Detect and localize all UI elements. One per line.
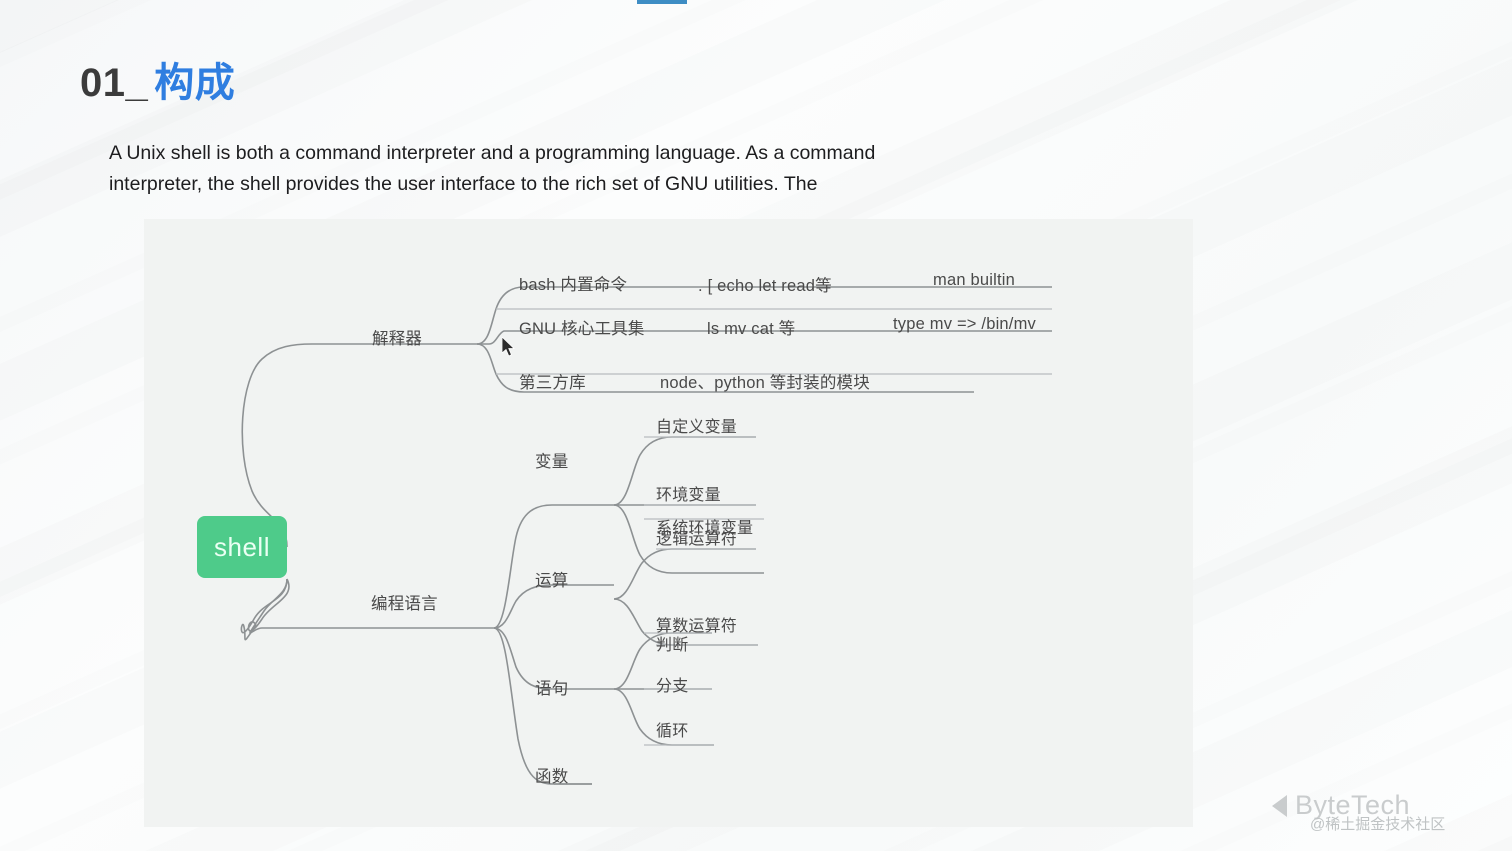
mindmap-panel: shell 解释器 编程语言 bash 内置命令 . [ echo let re…: [144, 219, 1193, 827]
paragraph-line-2: interpreter, the shell provides the user…: [109, 169, 1009, 200]
interpreter-item-0-note: man builtin: [933, 271, 1015, 290]
interpreter-item-1-name[interactable]: GNU 核心工具集: [519, 315, 645, 339]
interpreter-item-0-name[interactable]: bash 内置命令: [519, 271, 627, 295]
bytetech-arrow-icon: [1272, 795, 1287, 817]
page-title-text: 构成: [154, 61, 235, 105]
body-paragraph: A Unix shell is both a command interpret…: [109, 138, 1009, 200]
language-group-0-child-0[interactable]: 自定义变量: [656, 413, 737, 437]
language-group-2-label[interactable]: 语句: [535, 675, 568, 699]
mouse-cursor-icon: [502, 337, 516, 357]
page-title-number: 01_: [80, 61, 148, 105]
slide-progress-track[interactable]: [0, 0, 1512, 4]
interpreter-item-1-note: type mv => /bin/mv: [893, 315, 1036, 334]
language-group-1-label[interactable]: 运算: [535, 567, 568, 591]
slide-progress-bar: [637, 0, 687, 4]
language-group-0-label[interactable]: 变量: [535, 448, 568, 472]
interpreter-item-0-examples: . [ echo let read等: [698, 272, 832, 296]
interpreter-item-2-name[interactable]: 第三方库: [519, 369, 586, 393]
statement-child-judge[interactable]: 判断: [656, 631, 688, 655]
mindmap-root-shell[interactable]: shell: [197, 516, 287, 578]
statement-child-loop[interactable]: 循环: [656, 717, 688, 741]
statement-child-branch[interactable]: 分支: [656, 672, 688, 696]
branch-label-interpreter[interactable]: 解释器: [372, 325, 422, 349]
paragraph-line-1: A Unix shell is both a command interpret…: [109, 138, 1009, 169]
community-credit-watermark: @稀土掘金技术社区: [1310, 813, 1445, 834]
language-group-0-child-1[interactable]: 环境变量: [656, 481, 721, 505]
language-group-3-label[interactable]: 函数: [535, 763, 568, 787]
page-title: 01_构成: [80, 50, 235, 108]
slide-canvas: 01_构成 A Unix shell is both a command int…: [0, 0, 1512, 851]
language-group-1-child-0[interactable]: 逻辑运算符: [656, 525, 737, 549]
interpreter-item-2-examples: node、python 等封装的模块: [660, 369, 870, 393]
branch-label-language[interactable]: 编程语言: [371, 590, 438, 614]
interpreter-item-1-examples: ls mv cat 等: [707, 315, 795, 339]
